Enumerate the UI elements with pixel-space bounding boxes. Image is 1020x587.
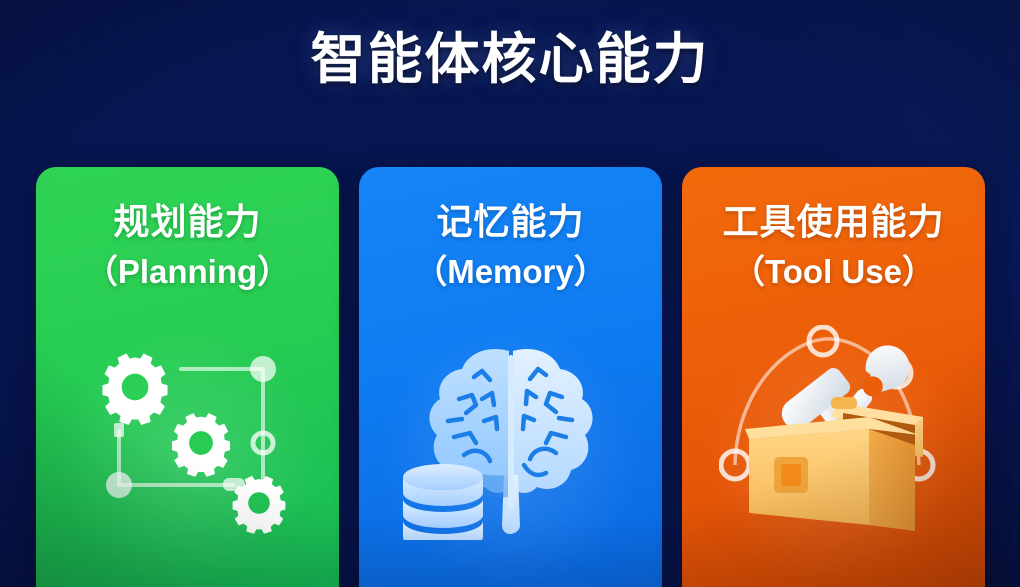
toolbox-wrench-hammer-icon	[719, 325, 949, 540]
brain-database-icon	[396, 325, 626, 540]
page-title: 智能体核心能力	[0, 28, 1020, 90]
card-title-en: （Memory）	[359, 249, 662, 295]
database-stack	[403, 464, 483, 540]
card-heading-group: 规划能力 （Planning）	[36, 199, 339, 295]
card-heading-group: 记忆能力 （Memory）	[359, 199, 662, 295]
card-title-cn: 规划能力	[36, 199, 339, 245]
capability-card-tool-use[interactable]: 工具使用能力 （Tool Use）	[682, 167, 985, 587]
gears-network-icon	[73, 325, 303, 540]
card-title-cn: 工具使用能力	[682, 199, 985, 245]
capability-card-memory[interactable]: 记忆能力 （Memory）	[359, 167, 662, 587]
card-title-en: （Tool Use）	[682, 249, 985, 295]
card-heading-group: 工具使用能力 （Tool Use）	[682, 199, 985, 295]
capability-card-planning[interactable]: 规划能力 （Planning）	[36, 167, 339, 587]
card-title-cn: 记忆能力	[359, 199, 662, 245]
capability-card-list: 规划能力 （Planning）	[36, 167, 985, 587]
slide-canvas: 智能体核心能力 规划能力 （Planning）	[0, 0, 1020, 587]
card-title-en: （Planning）	[36, 249, 339, 295]
